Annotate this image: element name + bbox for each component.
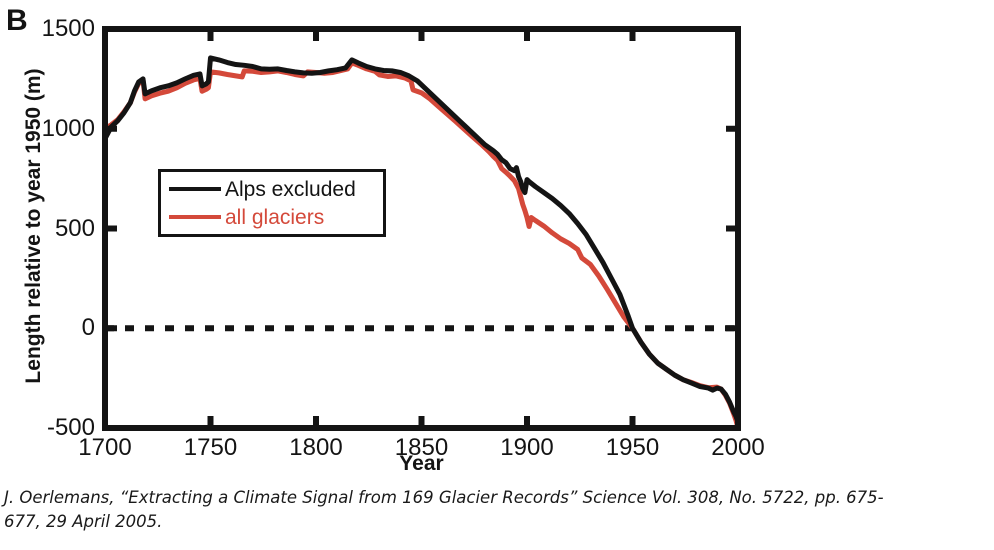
x-tick-label: 1900 xyxy=(500,434,553,462)
x-tick-label: 1850 xyxy=(395,434,448,462)
chart-canvas xyxy=(0,0,994,480)
y-tick-label: 1500 xyxy=(0,15,95,43)
legend-entry-alps-excluded: Alps excluded xyxy=(169,176,356,202)
figure-panel-b: B Length relative to year 1950 (m) Year … xyxy=(0,0,994,480)
x-tick-label: 1700 xyxy=(78,434,131,462)
y-tick-label: 1000 xyxy=(0,115,95,143)
legend-label-all-glaciers: all glaciers xyxy=(225,207,324,228)
y-tick-label: 0 xyxy=(0,314,95,342)
x-tick-label: 1800 xyxy=(289,434,342,462)
x-tick-label: 1950 xyxy=(606,434,659,462)
legend-swatch-black-line xyxy=(169,187,221,191)
legend-label-alps-excluded: Alps excluded xyxy=(225,179,356,200)
legend-swatch-red-line xyxy=(169,215,221,219)
chart-legend: Alps excluded all glaciers xyxy=(158,169,386,237)
y-tick-label: 500 xyxy=(0,215,95,243)
legend-entry-all-glaciers: all glaciers xyxy=(169,204,324,230)
x-tick-label: 2000 xyxy=(711,434,764,462)
x-tick-label: 1750 xyxy=(184,434,237,462)
figure-caption: J. Oerlemans, “Extracting a Climate Sign… xyxy=(4,486,904,534)
